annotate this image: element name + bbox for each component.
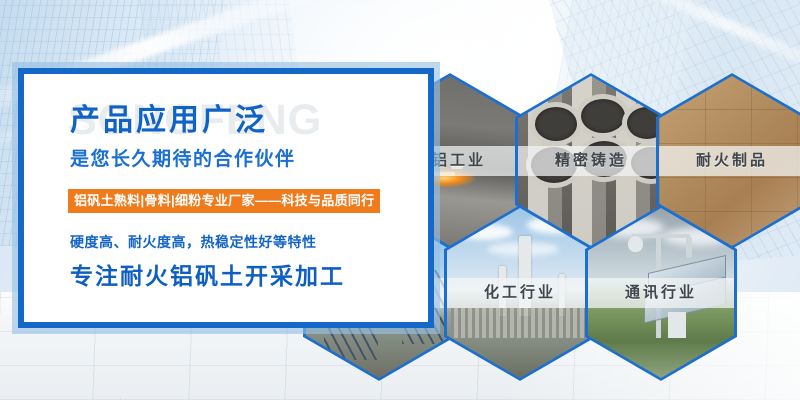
headline: 产品应用广泛 (70, 106, 428, 136)
hexagon-label: 通讯行业 (588, 278, 734, 308)
promotional-banner: 炼铝工业 精密铸造 耐火制品 (0, 0, 800, 400)
message-card: SONGFENG 产品应用广泛 是您长久期待的合作伙伴 铝矾土熟料|骨料|细粉专… (12, 62, 440, 334)
orange-highlight-bar: 铝矾土熟料|骨料|细粉专业厂家——科技与品质同行 (68, 189, 380, 213)
hexagon-label: 耐火制品 (659, 146, 800, 176)
message-card-inner: SONGFENG 产品应用广泛 是您长久期待的合作伙伴 铝矾土熟料|骨料|细粉专… (18, 68, 434, 328)
hexagon-label: 精密铸造 (518, 146, 664, 176)
message-card-body: 产品应用广泛 是您长久期待的合作伙伴 铝矾土熟料|骨料|细粉专业厂家——科技与品… (24, 74, 428, 288)
hexagon-label: 化工行业 (447, 278, 593, 308)
feature-text: 硬度高、耐火度高，热稳定性好等特性 (70, 235, 428, 249)
subheadline: 是您长久期待的合作伙伴 (70, 150, 428, 169)
tagline: 专注耐火铝矾土开采加工 (70, 265, 428, 288)
